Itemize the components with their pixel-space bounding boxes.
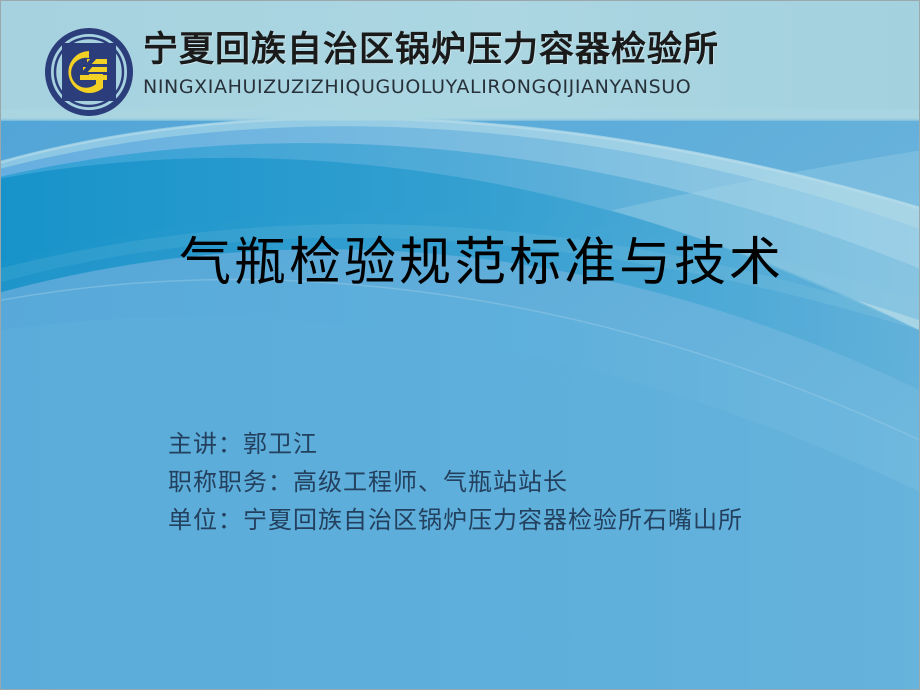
presenter-info: 主讲：郭卫江 职称职务：高级工程师、气瓶站站长 单位：宁夏回族自治区锅炉压力容器… xyxy=(168,425,743,539)
presenter-organization-line: 单位：宁夏回族自治区锅炉压力容器检验所石嘴山所 xyxy=(168,501,743,539)
slide-header: 宁夏回族自治区锅炉压力容器检验所 NINGXIAHUIZUZIZHIQUGUOL… xyxy=(1,1,920,119)
organization-text: 宁夏回族自治区锅炉压力容器检验所 NINGXIAHUIZUZIZHIQUGUOL… xyxy=(143,29,763,98)
slide-title: 气瓶检验规范标准与技术 xyxy=(179,220,784,295)
organization-name-cn: 宁夏回族自治区锅炉压力容器检验所 xyxy=(143,29,763,73)
institute-logo xyxy=(45,28,133,116)
institute-emblem-icon xyxy=(45,28,133,116)
presenter-title-line: 职称职务：高级工程师、气瓶站站长 xyxy=(168,463,743,501)
organization-name-pinyin: NINGXIAHUIZUZIZHIQUGUOLUYALIRONGQIJIANYA… xyxy=(143,76,763,98)
presenter-name-line: 主讲：郭卫江 xyxy=(168,425,743,463)
title-slide: 宁夏回族自治区锅炉压力容器检验所 NINGXIAHUIZUZIZHIQUGUOL… xyxy=(0,0,920,690)
